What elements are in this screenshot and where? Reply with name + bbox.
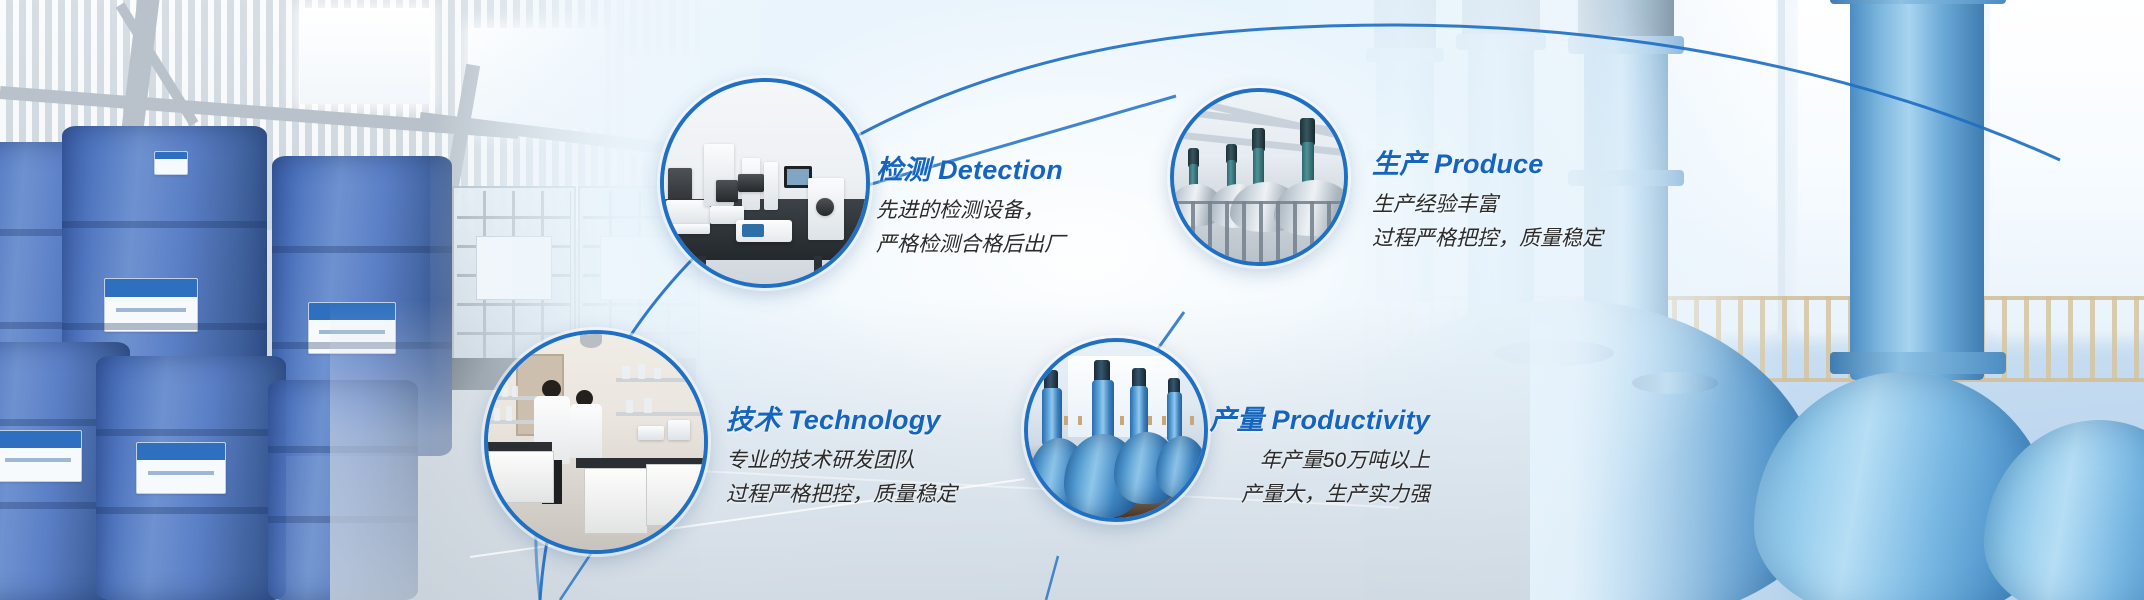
- produce-heading: 生产 Produce: [1372, 142, 1603, 181]
- weighing-scale: [736, 220, 792, 242]
- detection-heading: 检测 Detection: [876, 148, 1065, 187]
- productivity-line-1: 年产量50万吨以上: [1170, 446, 1430, 476]
- detection-line-2: 严格检测合格后出厂: [876, 230, 1065, 260]
- productivity-heading: 产量 Productivity: [1170, 398, 1430, 437]
- produce-factory-scene: [1174, 92, 1344, 262]
- feature-text-technology: 技术 Technology 专业的技术研发团队 过程严格把控，质量稳定: [726, 398, 957, 514]
- capability-banner: 检测 Detection 先进的检测设备， 严格检测合格后出厂 生产 Produ…: [0, 0, 2144, 600]
- productivity-line-2: 产量大，生产实力强: [1170, 480, 1430, 510]
- produce-line-1: 生产经验丰富: [1372, 190, 1603, 220]
- technology-lab-scene: [488, 334, 704, 550]
- technology-line-1: 专业的技术研发团队: [726, 446, 957, 476]
- feature-photo-produce[interactable]: [1170, 88, 1348, 266]
- feature-photo-technology[interactable]: [484, 330, 708, 554]
- feature-photo-detection[interactable]: [660, 78, 870, 288]
- detection-lab-scene: [664, 82, 866, 284]
- ceiling-lamp: [580, 334, 602, 348]
- detection-line-1: 先进的检测设备，: [876, 196, 1065, 226]
- feature-text-produce: 生产 Produce 生产经验丰富 过程严格把控，质量稳定: [1372, 142, 1603, 258]
- produce-line-2: 过程严格把控，质量稳定: [1372, 224, 1603, 254]
- link-productivity-down: [1046, 556, 1058, 600]
- technician-labcoat: [570, 404, 602, 458]
- technology-heading: 技术 Technology: [726, 398, 957, 437]
- technology-line-2: 过程严格把控，质量稳定: [726, 480, 957, 510]
- feature-text-productivity: 产量 Productivity 年产量50万吨以上 产量大，生产实力强: [1170, 398, 1430, 514]
- feature-text-detection: 检测 Detection 先进的检测设备， 严格检测合格后出厂: [876, 148, 1065, 264]
- workshop-window: [1068, 356, 1178, 437]
- factory-railing: [1174, 201, 1344, 262]
